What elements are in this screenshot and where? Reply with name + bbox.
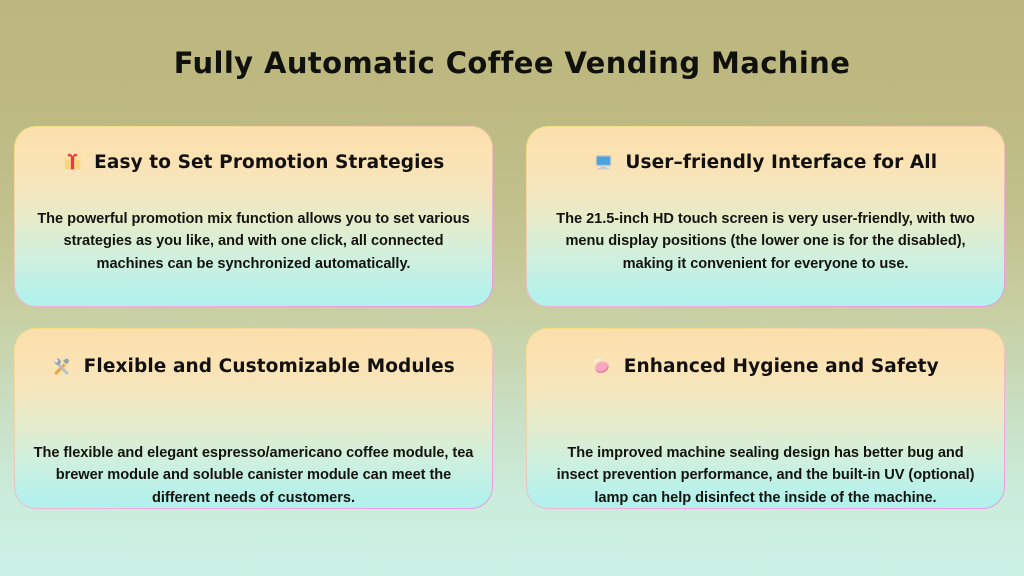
soap-icon: [592, 356, 611, 375]
desktop-computer-icon: [594, 152, 613, 171]
card-body-text: The improved machine sealing design has …: [543, 442, 988, 509]
card-body-text: The 21.5-inch HD touch screen is very us…: [543, 208, 988, 275]
page-title: Fully Automatic Coffee Vending Machine: [0, 46, 1024, 81]
card-body-text: The powerful promotion mix function allo…: [31, 208, 476, 275]
card-heading-text: Easy to Set Promotion Strategies: [94, 152, 444, 173]
card-heading: Flexible and Customizable Modules: [31, 354, 476, 380]
hammer-and-wrench-icon: [52, 356, 71, 375]
card-heading: Easy to Set Promotion Strategies: [31, 150, 476, 176]
card-body-text: The flexible and elegant espresso/americ…: [31, 442, 476, 509]
feature-card-customizable-modules[interactable]: Flexible and Customizable Modules The fl…: [14, 328, 493, 509]
feature-card-grid: Easy to Set Promotion Strategies The pow…: [14, 126, 1010, 509]
card-heading-text: Enhanced Hygiene and Safety: [624, 356, 939, 377]
card-heading-text: Flexible and Customizable Modules: [84, 356, 455, 377]
feature-card-hygiene-safety[interactable]: Enhanced Hygiene and Safety The improved…: [526, 328, 1005, 509]
feature-card-promotion-strategies[interactable]: Easy to Set Promotion Strategies The pow…: [14, 126, 493, 307]
gift-icon: [63, 152, 82, 171]
feature-card-user-friendly-interface[interactable]: User–friendly Interface for All The 21.5…: [526, 126, 1005, 307]
poster-canvas: Fully Automatic Coffee Vending Machine E…: [0, 0, 1024, 576]
card-heading: User–friendly Interface for All: [543, 150, 988, 176]
card-heading-text: User–friendly Interface for All: [625, 152, 937, 173]
card-heading: Enhanced Hygiene and Safety: [543, 354, 988, 380]
